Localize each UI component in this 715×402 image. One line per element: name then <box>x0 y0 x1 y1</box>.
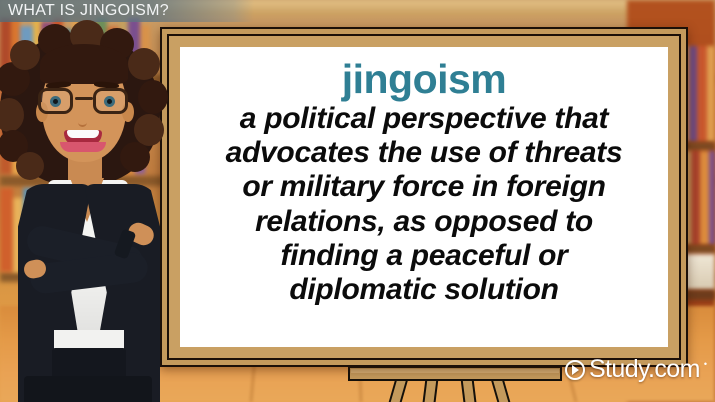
definition-line: a political perspective that <box>226 102 623 136</box>
hair-curl <box>128 48 160 80</box>
play-circle-icon <box>565 360 585 380</box>
eye-right <box>104 96 115 107</box>
lower-lip <box>60 142 106 152</box>
waistband <box>52 348 126 378</box>
hair-curl <box>10 40 40 70</box>
vocabulary-definition: a political perspective that advocates t… <box>226 102 623 307</box>
easel-tray <box>348 366 562 381</box>
definition-line: diplomatic solution <box>226 273 623 307</box>
vocabulary-term: jingoism <box>342 59 507 100</box>
logo-text: Study.com <box>589 355 700 384</box>
skirt <box>24 376 152 402</box>
easel-leg <box>461 379 477 402</box>
logo-trademark: • <box>704 359 707 369</box>
hair-fringe <box>40 44 128 84</box>
hair-curl <box>16 152 44 180</box>
definition-line: finding a peaceful or <box>226 239 623 273</box>
glasses-bridge <box>75 97 93 100</box>
definition-line: relations, as opposed to <box>226 205 623 239</box>
eye-left <box>50 96 61 107</box>
whiteboard-frame-outer: jingoism a political perspective that ad… <box>160 27 688 367</box>
whiteboard: jingoism a political perspective that ad… <box>160 27 688 367</box>
torso <box>18 180 158 402</box>
nose <box>78 118 87 127</box>
hair-curl <box>120 142 150 172</box>
study-com-logo[interactable]: Study.com • <box>565 355 707 384</box>
teeth <box>67 130 99 138</box>
whiteboard-frame-inner: jingoism a political perspective that ad… <box>167 34 681 360</box>
easel-tray-highlight <box>351 369 559 373</box>
presenter-illustration <box>0 18 174 402</box>
shirt-hem <box>54 330 124 350</box>
hair-curl <box>138 80 168 114</box>
definition-line: advocates the use of threats <box>226 136 623 170</box>
definition-line: or military force in foreign <box>226 170 623 204</box>
whiteboard-surface: jingoism a political perspective that ad… <box>180 47 668 347</box>
video-frame: WHAT IS JINGOISM? jingoism a political p… <box>0 0 715 402</box>
hair-curl <box>134 114 164 146</box>
